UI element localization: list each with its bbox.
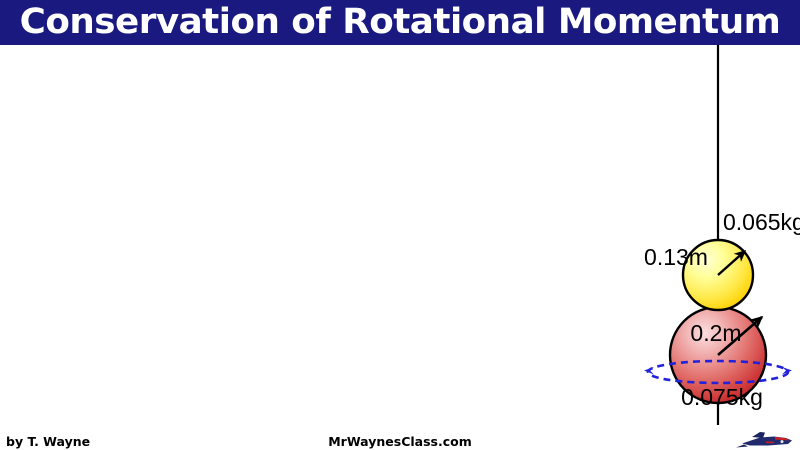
diagram-stage: 0.065kg 0.13m 0.2m 0.075kg: [0, 45, 800, 425]
rocket-car-icon: [736, 432, 792, 448]
red-radius-label: 0.2m: [690, 320, 741, 346]
page-title: Conservation of Rotational Momentum: [0, 0, 800, 44]
footer-graphics: by T. Wayne MrWaynesClass.com: [0, 425, 800, 450]
footer-bar: by T. Wayne MrWaynesClass.com: [0, 425, 800, 450]
yellow-radius-label: 0.13m: [644, 244, 708, 270]
title-banner: Conservation of Rotational Momentum: [0, 0, 800, 45]
footer-website: MrWaynesClass.com: [328, 434, 472, 449]
footer-author: by T. Wayne: [6, 434, 90, 449]
top-mass-label: 0.065kg: [723, 209, 800, 235]
rotation-arrow-left-icon: [644, 367, 654, 375]
rotational-momentum-diagram: 0.065kg 0.13m 0.2m 0.075kg: [0, 45, 800, 425]
red-mass-label: 0.075kg: [681, 384, 763, 410]
